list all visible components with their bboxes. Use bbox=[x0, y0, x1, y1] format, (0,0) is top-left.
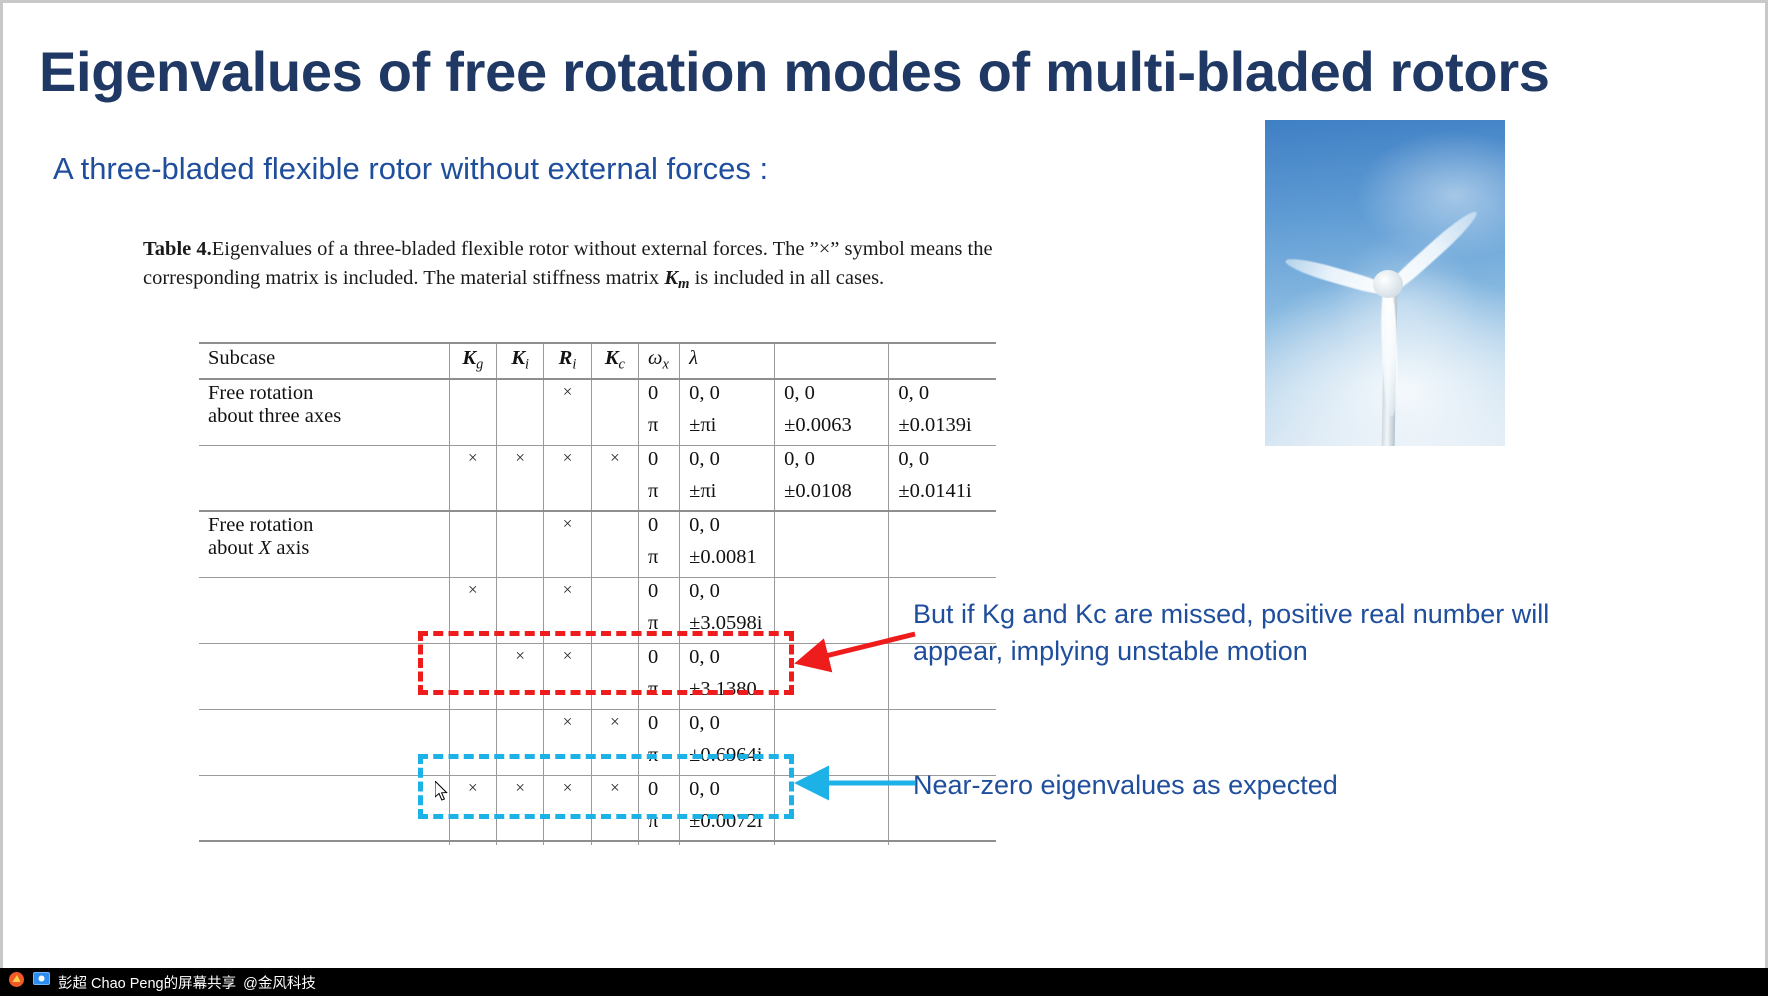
share-label: 彭超 Chao Peng的屏幕共享 bbox=[58, 972, 236, 993]
blade-glow bbox=[1325, 225, 1485, 385]
cell-ki bbox=[497, 577, 544, 610]
cell-ki bbox=[497, 709, 544, 742]
page-title: Eigenvalues of free rotation modes of mu… bbox=[39, 39, 1550, 104]
cell-kg: × bbox=[449, 445, 496, 478]
cell-kc-blank bbox=[591, 808, 638, 841]
cell-omega-pi: π bbox=[639, 808, 680, 841]
cell-ki-blank bbox=[497, 610, 544, 643]
cell-omega: 0 bbox=[639, 445, 680, 478]
cell-kg-blank bbox=[449, 544, 496, 577]
row-subcase-label-2: Free rotation about X axis bbox=[199, 511, 449, 577]
cell-ki: × bbox=[497, 643, 544, 676]
cell-kg-blank bbox=[449, 676, 496, 709]
cell-lambda-1: 0, 0 bbox=[680, 775, 775, 808]
cell-lambda-3b: ±0.0139i bbox=[889, 412, 996, 445]
turbine-hub bbox=[1373, 270, 1403, 298]
cell-omega: 0 bbox=[639, 775, 680, 808]
cell-omega: 0 bbox=[639, 709, 680, 742]
cell-kc-blank bbox=[591, 676, 638, 709]
cell-lambda-3b: ±0.0141i bbox=[889, 478, 996, 511]
cell-ki-blank bbox=[497, 412, 544, 445]
header-lambda-2 bbox=[775, 343, 889, 379]
slide-canvas: Eigenvalues of free rotation modes of mu… bbox=[0, 0, 1768, 968]
cell-kg-blank bbox=[449, 478, 496, 511]
table-row: × × 0 0, 0 bbox=[199, 709, 996, 742]
cell-ri-blank bbox=[544, 742, 591, 775]
cell-lambda-1: 0, 0 bbox=[680, 709, 775, 742]
cell-kg: × bbox=[449, 775, 496, 808]
cell-kc: × bbox=[591, 775, 638, 808]
cell-omega: 0 bbox=[639, 379, 680, 412]
cell-kg-blank bbox=[449, 610, 496, 643]
cell-omega-pi: π bbox=[639, 478, 680, 511]
row-subcase-empty bbox=[199, 643, 449, 709]
cell-lambda-2 bbox=[775, 577, 889, 610]
cell-omega-pi: π bbox=[639, 412, 680, 445]
cell-lambda-1b: ±πi bbox=[680, 478, 775, 511]
cell-ki bbox=[497, 511, 544, 544]
caption-matrix-subscript: m bbox=[678, 276, 689, 292]
cell-kg-blank bbox=[449, 412, 496, 445]
cell-ri-blank bbox=[544, 544, 591, 577]
cell-omega-pi: π bbox=[639, 742, 680, 775]
cell-ki-blank bbox=[497, 808, 544, 841]
cell-lambda-2b: ±0.0063 bbox=[775, 412, 889, 445]
table-caption: Table 4.Eigenvalues of a three-bladed fl… bbox=[143, 235, 1053, 299]
header-lambda: λ bbox=[680, 343, 775, 379]
cell-kg bbox=[449, 709, 496, 742]
table-row: Free rotation about X axis × 0 0, 0 bbox=[199, 511, 996, 544]
cell-ki: × bbox=[497, 445, 544, 478]
cell-lambda-2b bbox=[775, 808, 889, 841]
cyan-arrow-icon bbox=[789, 763, 919, 803]
subcase-line-2: about three axes bbox=[208, 405, 440, 428]
cell-ri-blank bbox=[544, 676, 591, 709]
cell-lambda-3: 0, 0 bbox=[889, 379, 996, 412]
cell-lambda-1b: ±3.1380 bbox=[680, 676, 775, 709]
cell-lambda-1: 0, 0 bbox=[680, 643, 775, 676]
row-subcase-empty bbox=[199, 445, 449, 511]
caption-matrix-symbol: K bbox=[664, 267, 678, 289]
cell-ri: × bbox=[544, 775, 591, 808]
cell-kg bbox=[449, 643, 496, 676]
cell-ri-blank bbox=[544, 412, 591, 445]
cell-lambda-3b bbox=[889, 544, 996, 577]
cell-kg bbox=[449, 511, 496, 544]
header-ki: Ki bbox=[497, 343, 544, 379]
table-caption-label: Table 4. bbox=[143, 238, 212, 260]
header-kc: Kc bbox=[591, 343, 638, 379]
cell-lambda-1b: ±3.0598i bbox=[680, 610, 775, 643]
wind-turbine-photo bbox=[1265, 120, 1505, 446]
cell-kg-blank bbox=[449, 808, 496, 841]
cell-lambda-2b bbox=[775, 544, 889, 577]
cell-kc bbox=[591, 643, 638, 676]
cell-lambda-2: 0, 0 bbox=[775, 379, 889, 412]
subcase2-line-2: about X axis bbox=[208, 537, 440, 560]
cell-ri-blank bbox=[544, 478, 591, 511]
annotation-cyan-text: Near-zero eigenvalues as expected bbox=[913, 767, 1533, 804]
app-logo-icon[interactable] bbox=[8, 971, 25, 993]
cell-lambda-3: 0, 0 bbox=[889, 445, 996, 478]
cell-ki: × bbox=[497, 775, 544, 808]
row-subcase-empty bbox=[199, 709, 449, 775]
cell-ri: × bbox=[544, 643, 591, 676]
cell-ki-blank bbox=[497, 544, 544, 577]
cell-lambda-3 bbox=[889, 511, 996, 544]
cell-lambda-2b: ±0.0108 bbox=[775, 478, 889, 511]
row-subcase-empty bbox=[199, 577, 449, 643]
taskbar-inner: 彭超 Chao Peng的屏幕共享 @金风科技 bbox=[0, 968, 1768, 996]
cell-kc: × bbox=[591, 445, 638, 478]
cell-ki-blank bbox=[497, 676, 544, 709]
annotation-red-text: But if Kg and Kc are missed, positive re… bbox=[913, 596, 1553, 670]
cell-omega: 0 bbox=[639, 577, 680, 610]
screen-share-icon[interactable] bbox=[33, 972, 50, 992]
cell-lambda-1: 0, 0 bbox=[680, 445, 775, 478]
cell-ki bbox=[497, 379, 544, 412]
cell-kc-blank bbox=[591, 610, 638, 643]
cell-ki-blank bbox=[497, 478, 544, 511]
cell-omega-pi: π bbox=[639, 610, 680, 643]
screen-share-status[interactable]: 彭超 Chao Peng的屏幕共享 @金风科技 bbox=[58, 968, 326, 996]
cell-omega: 0 bbox=[639, 511, 680, 544]
row-subcase-label: Free rotation about three axes bbox=[199, 379, 449, 445]
cell-kc-blank bbox=[591, 478, 638, 511]
cell-kc bbox=[591, 577, 638, 610]
cell-lambda-2 bbox=[775, 511, 889, 544]
cell-kg-blank bbox=[449, 742, 496, 775]
cell-ri-blank bbox=[544, 808, 591, 841]
cell-kg bbox=[449, 379, 496, 412]
cell-ri: × bbox=[544, 709, 591, 742]
cell-lambda-1b: ±0.6964i bbox=[680, 742, 775, 775]
cell-omega: 0 bbox=[639, 643, 680, 676]
cell-lambda-3 bbox=[889, 709, 996, 742]
cell-ki-blank bbox=[497, 742, 544, 775]
cell-kc-blank bbox=[591, 742, 638, 775]
cell-kc-blank bbox=[591, 544, 638, 577]
cell-ri: × bbox=[544, 379, 591, 412]
cell-omega-pi: π bbox=[639, 544, 680, 577]
cell-lambda-1: 0, 0 bbox=[680, 379, 775, 412]
header-ri: Ri bbox=[544, 343, 591, 379]
share-org-label: @金风科技 bbox=[243, 972, 316, 993]
cell-omega-pi: π bbox=[639, 676, 680, 709]
taskbar: 彭超 Chao Peng的屏幕共享 @金风科技 bbox=[0, 968, 1768, 996]
table-bottom-rule bbox=[199, 841, 996, 845]
header-lambda-3 bbox=[889, 343, 996, 379]
cell-lambda-1: 0, 0 bbox=[680, 511, 775, 544]
cell-lambda-2: 0, 0 bbox=[775, 445, 889, 478]
cell-kc: × bbox=[591, 709, 638, 742]
cell-ri-blank bbox=[544, 610, 591, 643]
cell-lambda-1: 0, 0 bbox=[680, 577, 775, 610]
cell-lambda-1b: ±0.0072i bbox=[680, 808, 775, 841]
cell-kg: × bbox=[449, 577, 496, 610]
table-header-row: Subcase Kg Ki Ri Kc ωx λ bbox=[199, 343, 996, 379]
red-arrow-icon bbox=[789, 621, 919, 691]
subcase2-line-1: Free rotation bbox=[208, 514, 440, 537]
cell-lambda-1b: ±0.0081 bbox=[680, 544, 775, 577]
cell-lambda-3b bbox=[889, 808, 996, 841]
header-kg: Kg bbox=[449, 343, 496, 379]
cell-ri: × bbox=[544, 577, 591, 610]
cell-kc bbox=[591, 379, 638, 412]
table-caption-text-2: is included in all cases. bbox=[689, 267, 884, 289]
mouse-cursor-icon bbox=[435, 781, 451, 803]
cell-lambda-1b: ±πi bbox=[680, 412, 775, 445]
header-subcase: Subcase bbox=[199, 343, 449, 379]
cell-ri: × bbox=[544, 445, 591, 478]
table-row: × × 0 0, 0 bbox=[199, 577, 996, 610]
row-subcase-empty bbox=[199, 775, 449, 841]
cell-ri: × bbox=[544, 511, 591, 544]
cell-kc-blank bbox=[591, 412, 638, 445]
subcase-line-1: Free rotation bbox=[208, 382, 440, 405]
table-row: Free rotation about three axes × 0 0, 0 … bbox=[199, 379, 996, 412]
header-omega-x: ωx bbox=[639, 343, 680, 379]
slide-subtitle: A three-bladed flexible rotor without ex… bbox=[53, 151, 768, 187]
table-row: × × × × 0 0, 0 0, 0 0, 0 bbox=[199, 445, 996, 478]
cell-lambda-2 bbox=[775, 709, 889, 742]
cell-kc bbox=[591, 511, 638, 544]
